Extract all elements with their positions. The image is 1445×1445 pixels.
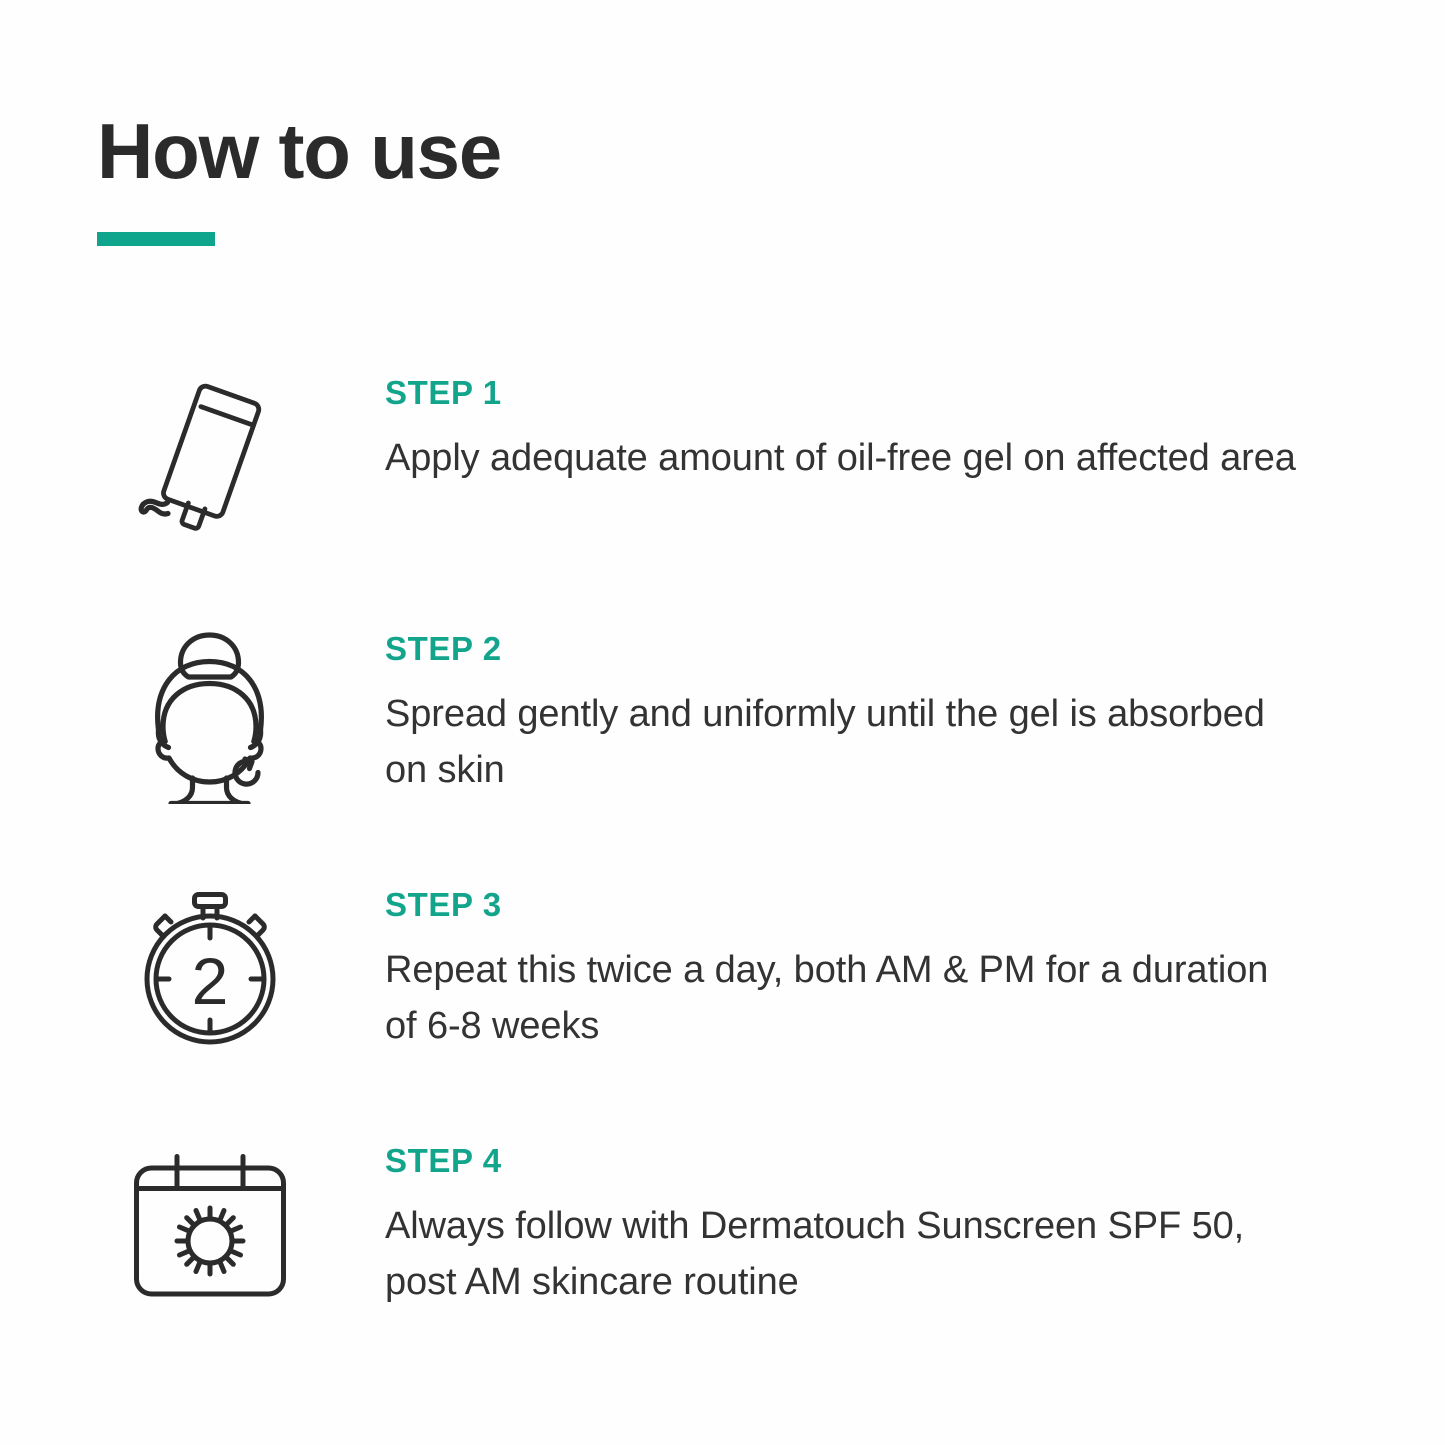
page-title: How to use <box>97 112 997 190</box>
step-label: STEP 2 <box>385 632 1445 665</box>
step-description: Apply adequate amount of oil-free gel on… <box>385 431 1305 487</box>
calendar-sun-icon <box>120 1136 300 1300</box>
cream-tube-icon <box>120 368 300 532</box>
step-label: STEP 3 <box>385 888 1445 921</box>
title-accent-bar <box>97 232 215 246</box>
how-to-use-page: How to use STEP 1 Apply adequat <box>0 0 1445 1445</box>
step-row: STEP 1 Apply adequate amount of oil-free… <box>0 368 1445 624</box>
step-description: Repeat this twice a day, both AM & PM fo… <box>385 943 1305 1055</box>
step-row: STEP 4 Always follow with Dermatouch Sun… <box>0 1136 1445 1392</box>
header: How to use <box>97 112 997 246</box>
step-body: STEP 3 Repeat this twice a day, both AM … <box>300 880 1445 1055</box>
step-label: STEP 4 <box>385 1144 1445 1177</box>
step-body: STEP 2 Spread gently and uniformly until… <box>300 624 1445 799</box>
step-row: STEP 2 Spread gently and uniformly until… <box>0 624 1445 880</box>
step-description: Always follow with Dermatouch Sunscreen … <box>385 1199 1305 1311</box>
step-description: Spread gently and uniformly until the ge… <box>385 687 1305 799</box>
step-row: 2 STEP 3 Repeat this twice a day, both A… <box>0 880 1445 1136</box>
step-label: STEP 1 <box>385 376 1445 409</box>
face-massage-icon <box>120 624 300 804</box>
steps-list: STEP 1 Apply adequate amount of oil-free… <box>0 368 1445 1392</box>
stopwatch-value: 2 <box>192 944 229 1018</box>
step-body: STEP 4 Always follow with Dermatouch Sun… <box>300 1136 1445 1311</box>
stopwatch-icon: 2 <box>120 880 300 1046</box>
step-body: STEP 1 Apply adequate amount of oil-free… <box>300 368 1445 487</box>
